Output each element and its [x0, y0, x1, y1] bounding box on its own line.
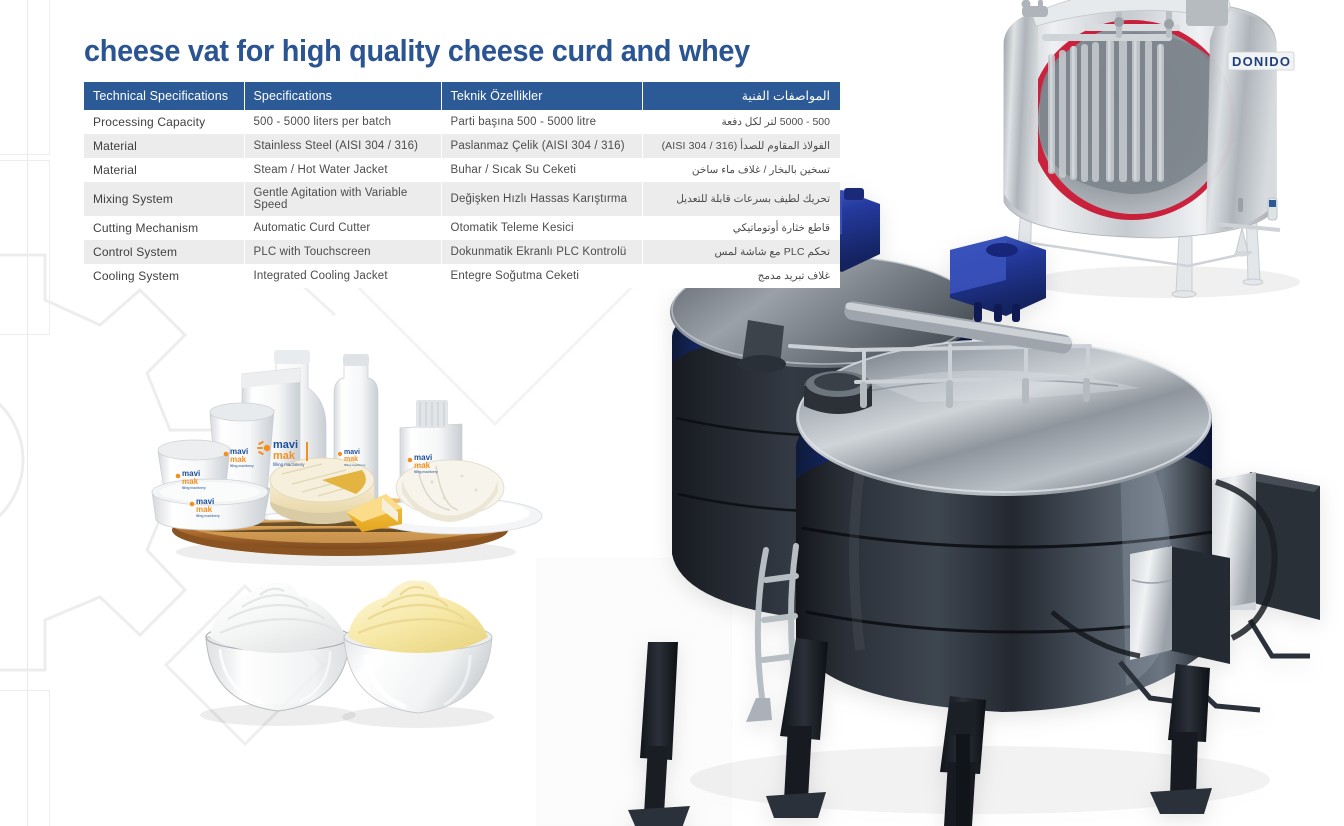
svg-text:mak: mak	[344, 456, 358, 463]
cell-spec-ar: تحكم PLC مع شاشة لمس	[642, 240, 840, 264]
cell-spec-ar: تحريك لطيف بسرعات قابلة للتعديل	[642, 182, 840, 216]
table-row: Control System PLC with Touchscreen Doku…	[84, 240, 840, 264]
svg-text:filling machinery: filling machinery	[414, 470, 438, 474]
deco-rect-top	[0, 0, 50, 155]
vat-ladder-foot	[746, 698, 772, 722]
cell-spec-en: Stainless Steel (AISI 304 / 316)	[244, 134, 441, 158]
cream-bowls-image	[180, 575, 520, 735]
svg-text:mak: mak	[196, 505, 213, 514]
svg-text:filling machinery: filling machinery	[196, 514, 220, 518]
cell-spec-tr: Değişken Hızlı Hassas Karıştırma	[441, 182, 642, 216]
vat-control-cabinet-small	[1130, 546, 1230, 664]
cell-spec-en: Steam / Hot Water Jacket	[244, 158, 441, 182]
table-header-row: Technical Specifications Specifications …	[84, 82, 840, 110]
cell-spec-ar: 500 - 5000 لتر لكل دفعة	[642, 110, 840, 134]
cutaway-top-fittings	[1022, 0, 1049, 17]
table-row: Cutting Mechanism Automatic Curd Cutter …	[84, 216, 840, 240]
cell-label: Cutting Mechanism	[84, 216, 244, 240]
cell-label: Cooling System	[84, 264, 244, 288]
svg-text:mak: mak	[230, 455, 247, 464]
cell-spec-en: Automatic Curd Cutter	[244, 216, 441, 240]
cell-spec-tr: Dokunmatik Ekranlı PLC Kontrolü	[441, 240, 642, 264]
glass-bowl-white-cream	[206, 582, 350, 711]
table-row: Material Stainless Steel (AISI 304 / 316…	[84, 134, 840, 158]
cell-spec-ar: تسخين بالبخار / غلاف ماء ساخن	[642, 158, 840, 182]
ceramic-bowl-yellow-cream	[344, 580, 492, 713]
vat-top-lid	[796, 340, 1212, 496]
svg-text:mak: mak	[414, 461, 431, 470]
table-row: Cooling System Integrated Cooling Jacket…	[84, 264, 840, 288]
cell-spec-ar: الفولاذ المقاوم للصدأ (AISI 304 / 316)	[642, 134, 840, 158]
cutaway-top-hatch	[1186, 0, 1228, 26]
cell-spec-ar: قاطع خثارة أوتوماتيكي	[642, 216, 840, 240]
cell-spec-tr: Paslanmaz Çelik (AISI 304 / 316)	[441, 134, 642, 158]
table-header-arabic: المواصفات الفنية	[642, 82, 840, 110]
table-header-technical-specifications: Technical Specifications	[84, 82, 244, 110]
vat-rear-legs	[628, 642, 690, 826]
table-row: Mixing System Gentle Agitation with Vari…	[84, 182, 840, 216]
dairy-products-image: mavi mak filling machinery mavi mak fill…	[150, 330, 550, 570]
cell-label: Control System	[84, 240, 244, 264]
cell-spec-en: 500 - 5000 liters per batch	[244, 110, 441, 134]
svg-text:mak: mak	[182, 477, 199, 486]
cell-spec-tr: Otomatik Teleme Kesici	[441, 216, 642, 240]
table-row: Material Steam / Hot Water Jacket Buhar …	[84, 158, 840, 182]
svg-text:filling machinery: filling machinery	[344, 463, 366, 467]
technical-specifications-table: Technical Specifications Specifications …	[84, 82, 840, 288]
table-header-teknik-ozellikler: Teknik Özellikler	[441, 82, 642, 110]
cell-spec-tr: Entegre Soğutma Ceketi	[441, 264, 642, 288]
deco-rect-bottom	[0, 690, 50, 826]
svg-text:mak: mak	[273, 450, 296, 462]
svg-text:filling machinery: filling machinery	[230, 464, 254, 468]
svg-text:DONIDO: DONIDO	[1232, 54, 1291, 69]
page-title: cheese vat for high quality cheese curd …	[84, 33, 750, 69]
cell-label: Processing Capacity	[84, 110, 244, 134]
cell-spec-en: Integrated Cooling Jacket	[244, 264, 441, 288]
cell-label: Material	[84, 158, 244, 182]
donido-nameplate: DONIDO	[1228, 52, 1294, 70]
svg-text:filling machinery: filling machinery	[182, 486, 206, 490]
cell-label: Material	[84, 134, 244, 158]
deco-rect-mid	[0, 160, 50, 335]
deco-vertical-rule	[27, 0, 28, 826]
table-row: Processing Capacity 500 - 5000 liters pe…	[84, 110, 840, 134]
svg-text:filling machinery: filling machinery	[273, 462, 305, 467]
cell-spec-en: Gentle Agitation with Variable Speed	[244, 182, 441, 216]
table-header-specifications: Specifications	[244, 82, 441, 110]
cell-spec-tr: Parti başına 500 - 5000 litre	[441, 110, 642, 134]
cell-label: Mixing System	[84, 182, 244, 216]
cell-spec-tr: Buhar / Sıcak Su Ceketi	[441, 158, 642, 182]
svg-text:mavi: mavi	[344, 449, 360, 456]
cell-spec-ar: غلاف تبريد مدمج	[642, 264, 840, 288]
cell-spec-en: PLC with Touchscreen	[244, 240, 441, 264]
